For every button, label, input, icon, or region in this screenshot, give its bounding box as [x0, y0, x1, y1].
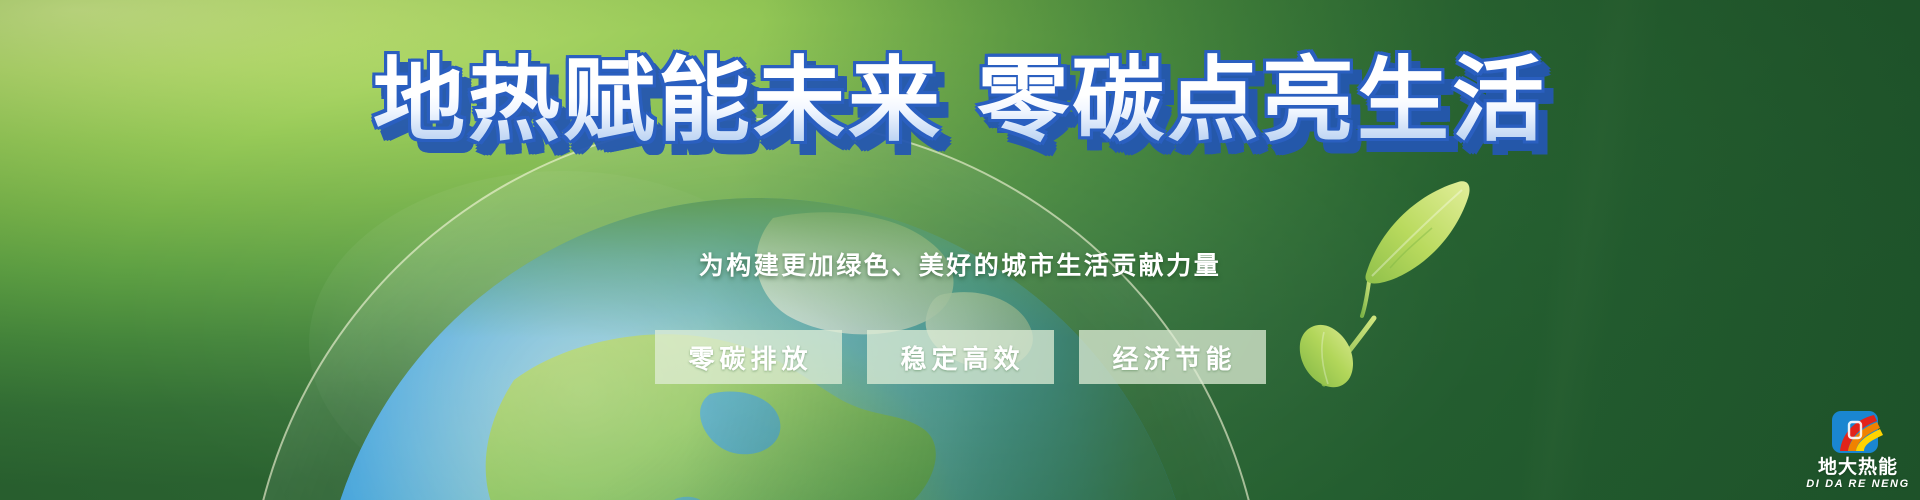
- logo-name-en: DI DA RE NENG: [1806, 478, 1910, 492]
- page-title: 地热赋能未来零碳点亮生活: [0, 50, 1920, 153]
- feature-tag-stable-efficient[interactable]: 稳定高效: [867, 330, 1054, 384]
- headline-part-1: 地热赋能未来: [373, 50, 943, 152]
- hero-banner: 地热赋能未来零碳点亮生活 为构建更加绿色、美好的城市生活贡献力量 零碳排放 稳定…: [0, 0, 1920, 500]
- page-subtitle: 为构建更加绿色、美好的城市生活贡献力量: [0, 246, 1920, 282]
- brand-logo[interactable]: 地大热能 DI DA RE NENG: [1806, 410, 1910, 492]
- headline-part-2: 零碳点亮生活: [977, 50, 1547, 152]
- feature-tag-economical[interactable]: 经济节能: [1079, 330, 1266, 384]
- logo-name-cn: 地大热能: [1818, 458, 1898, 478]
- feature-tag-row: 零碳排放 稳定高效 经济节能: [0, 330, 1920, 384]
- logo-mark-icon: [1830, 410, 1886, 456]
- feature-tag-zero-carbon[interactable]: 零碳排放: [655, 330, 842, 384]
